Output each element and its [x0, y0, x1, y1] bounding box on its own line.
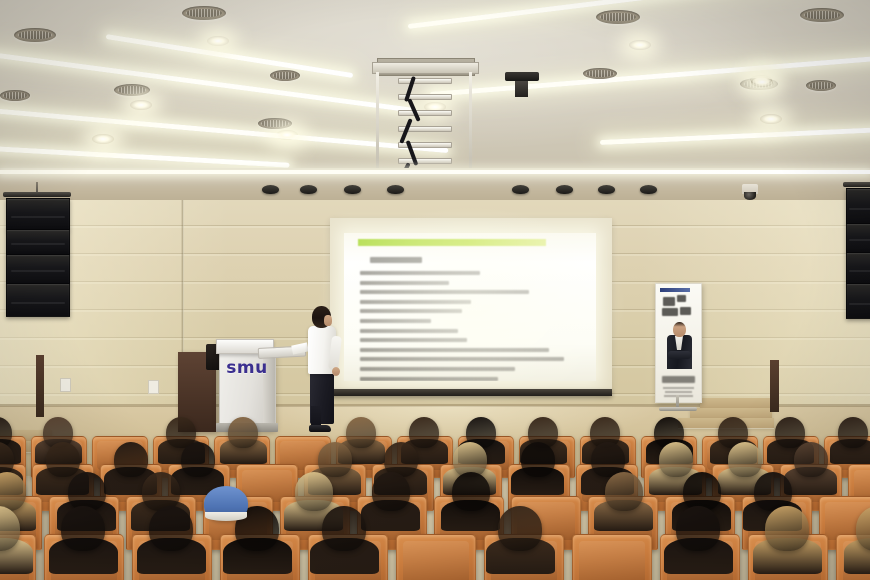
audience-member-head: [318, 442, 352, 477]
banner-top-bar: [660, 288, 690, 292]
banner-portrait: [665, 322, 693, 370]
audience-member-head: [794, 442, 828, 477]
audience-member-head: [372, 472, 410, 511]
banner-title-glyph: [663, 297, 675, 306]
audience-member-head: [838, 417, 868, 448]
audience-member-head: [676, 506, 720, 551]
presenter-hand: [332, 367, 340, 376]
auditorium-seat: [572, 534, 652, 580]
wall-outlet: [148, 380, 159, 394]
smu-logo: smu: [226, 358, 268, 378]
presenter-face: [324, 315, 332, 326]
audience-member-head: [521, 442, 555, 477]
audience-member-head: [659, 442, 693, 477]
audience-member-head: [765, 506, 809, 551]
audience-seating: [0, 408, 870, 580]
banner-fine-line: [665, 391, 692, 393]
presenter-papers: [291, 342, 309, 354]
audience-member-head: [149, 506, 193, 551]
audience-member-head: [728, 442, 762, 477]
audience-member-head: [409, 417, 439, 448]
banner-footer-text: [662, 376, 695, 383]
audience-member-head: [46, 442, 80, 477]
audience-member-head: [68, 472, 106, 511]
banner-portrait-arms: [668, 351, 691, 359]
audience-member-head: [683, 472, 721, 511]
audience-member-head: [498, 506, 542, 551]
audience-member-head: [322, 506, 366, 551]
banner-sheet: [655, 283, 702, 403]
roll-up-banner: [655, 283, 700, 411]
audience-member-head: [181, 442, 215, 477]
audience-member-head: [114, 442, 148, 477]
banner-title-glyph: [677, 295, 686, 302]
cap-brim: [205, 512, 247, 521]
banner-fine-line: [663, 387, 694, 389]
audience-member-head: [295, 472, 333, 511]
audience-member-head: [605, 472, 643, 511]
audience-member-head: [452, 472, 490, 511]
banner-title-glyph: [680, 307, 691, 315]
banner-title-glyph: [662, 308, 678, 316]
auditorium-seat: [396, 534, 476, 580]
audience-member-head: [142, 472, 180, 511]
auditorium-photo: smu: [0, 0, 870, 580]
audience-member-head: [61, 506, 105, 551]
audience-member-head: [346, 417, 376, 448]
banner-portrait-head: [673, 322, 686, 337]
audience-member-head: [775, 417, 805, 448]
audience-member-head: [228, 417, 258, 448]
wall-outlet: [60, 378, 71, 392]
